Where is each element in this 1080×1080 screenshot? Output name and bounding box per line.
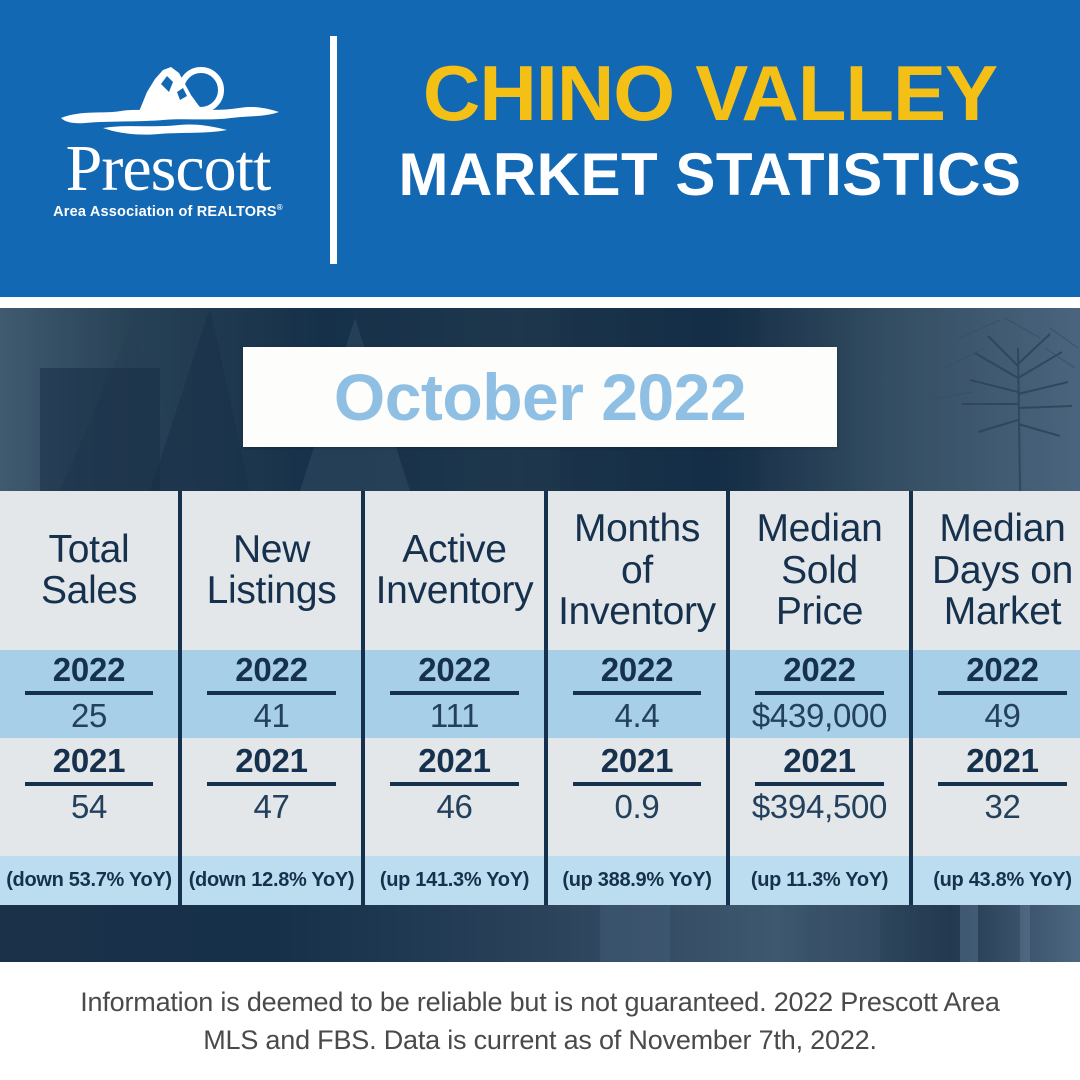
- value-2021: 0.9: [615, 788, 660, 826]
- stat-column-total-sales: Total Sales 2022 25 2021 54 (down 53.7% …: [0, 491, 178, 905]
- stat-column-median-days-on-market: Median Days on Market 2022 49 2021 32 (u…: [909, 491, 1080, 905]
- row-yoy-cell: (down 12.8% YoY): [182, 856, 361, 905]
- year-label-2021: 2021: [418, 744, 491, 779]
- row-2022-cell: 2022 25: [0, 650, 178, 739]
- year-label-2021: 2021: [783, 744, 856, 779]
- year-label-2022: 2022: [53, 653, 126, 688]
- column-header-label: Median Days on Market: [932, 508, 1073, 632]
- row-2022-cell: 2022 111: [365, 650, 544, 739]
- market-statistics-subtitle: MARKET STATISTICS: [360, 145, 1060, 205]
- value-2022: 4.4: [615, 697, 660, 735]
- column-header-label: Total Sales: [41, 529, 137, 612]
- value-2022: 25: [71, 697, 107, 735]
- market-statistics-infographic: Prescott Area Association of REALTORS® C…: [0, 0, 1080, 1080]
- year-rule: [390, 782, 519, 786]
- year-rule: [938, 691, 1067, 695]
- row-2022-cell: 2022 49: [913, 650, 1080, 739]
- yoy-change-label: (up 43.8% YoY): [933, 869, 1071, 892]
- value-2022: 111: [430, 697, 479, 735]
- row-yoy-cell: (down 53.7% YoY): [0, 856, 178, 905]
- row-2021-cell: 2021 $394,500: [730, 738, 909, 855]
- year-label-2021: 2021: [53, 744, 126, 779]
- year-rule: [207, 782, 336, 786]
- column-header-label: New Listings: [207, 529, 337, 612]
- row-2021-cell: 2021 32: [913, 738, 1080, 855]
- lower-photo-strip: [0, 905, 1080, 962]
- yoy-change-label: (up 11.3% YoY): [751, 869, 888, 892]
- month-banner: October 2022: [243, 347, 837, 447]
- row-yoy-cell: (up 43.8% YoY): [913, 856, 1080, 905]
- column-header-label: Median Sold Price: [756, 508, 882, 632]
- year-label-2022: 2022: [418, 653, 491, 688]
- year-label-2021: 2021: [601, 744, 674, 779]
- year-label-2022: 2022: [783, 653, 856, 688]
- month-label: October 2022: [334, 364, 746, 430]
- logo-wordmark: Prescott: [66, 138, 271, 201]
- year-label-2021: 2021: [235, 744, 308, 779]
- column-header-cell: New Listings: [182, 491, 361, 650]
- mountain-sun-icon: [43, 62, 293, 142]
- year-label-2022: 2022: [966, 653, 1039, 688]
- year-rule: [573, 691, 701, 695]
- row-yoy-cell: (up 11.3% YoY): [730, 856, 909, 905]
- registered-mark: ®: [277, 203, 283, 212]
- row-2022-cell: 2022 $439,000: [730, 650, 909, 739]
- prescott-logo: Prescott Area Association of REALTORS®: [28, 62, 308, 232]
- row-2021-cell: 2021 46: [365, 738, 544, 855]
- row-2022-cell: 2022 4.4: [548, 650, 726, 739]
- yoy-change-label: (down 12.8% YoY): [189, 869, 355, 892]
- header-title-group: CHINO VALLEY MARKET STATISTICS: [360, 55, 1060, 205]
- column-header-cell: Median Days on Market: [913, 491, 1080, 650]
- yoy-change-label: (down 53.7% YoY): [6, 869, 172, 892]
- year-rule: [207, 691, 336, 695]
- logo-subtitle: Area Association of REALTORS®: [53, 203, 283, 220]
- header-banner: Prescott Area Association of REALTORS® C…: [0, 0, 1080, 297]
- row-yoy-cell: (up 388.9% YoY): [548, 856, 726, 905]
- value-2021: 32: [984, 788, 1020, 826]
- value-2021: $394,500: [752, 788, 887, 826]
- stat-column-active-inventory: Active Inventory 2022 111 2021 46 (up 14…: [361, 491, 544, 905]
- row-2021-cell: 2021 47: [182, 738, 361, 855]
- yoy-change-label: (up 141.3% YoY): [380, 869, 529, 892]
- column-header-label: Active Inventory: [376, 529, 534, 612]
- year-label-2022: 2022: [601, 653, 674, 688]
- column-header-cell: Months of Inventory: [548, 491, 726, 650]
- row-2022-cell: 2022 41: [182, 650, 361, 739]
- footer-disclaimer: Information is deemed to be reliable but…: [0, 962, 1080, 1080]
- column-header-cell: Total Sales: [0, 491, 178, 650]
- column-header-label: Months of Inventory: [558, 508, 716, 632]
- year-rule: [938, 782, 1067, 786]
- row-2021-cell: 2021 0.9: [548, 738, 726, 855]
- lower-photo-graphic: [0, 905, 1080, 962]
- year-label-2021: 2021: [966, 744, 1039, 779]
- stat-column-median-sold-price: Median Sold Price 2022 $439,000 2021 $39…: [726, 491, 909, 905]
- value-2022: 41: [253, 697, 289, 735]
- value-2021: 54: [71, 788, 107, 826]
- year-rule: [573, 782, 701, 786]
- value-2021: 47: [253, 788, 289, 826]
- year-rule: [755, 691, 884, 695]
- row-2021-cell: 2021 54: [0, 738, 178, 855]
- yoy-change-label: (up 388.9% YoY): [562, 869, 711, 892]
- logo-subtitle-text: Area Association of REALTORS: [53, 204, 277, 220]
- value-2021: 46: [436, 788, 472, 826]
- year-label-2022: 2022: [235, 653, 308, 688]
- year-rule: [390, 691, 519, 695]
- value-2022: 49: [984, 697, 1020, 735]
- statistics-table: Total Sales 2022 25 2021 54 (down 53.7% …: [0, 491, 1080, 905]
- row-yoy-cell: (up 141.3% YoY): [365, 856, 544, 905]
- year-rule: [755, 782, 884, 786]
- column-header-cell: Active Inventory: [365, 491, 544, 650]
- header-vertical-divider: [330, 36, 337, 264]
- value-2022: $439,000: [752, 697, 887, 735]
- stat-column-new-listings: New Listings 2022 41 2021 47 (down 12.8%…: [178, 491, 361, 905]
- disclaimer-text: Information is deemed to be reliable but…: [75, 983, 1005, 1060]
- stat-column-months-of-inventory: Months of Inventory 2022 4.4 2021 0.9 (u…: [544, 491, 726, 905]
- market-name-title: CHINO VALLEY: [353, 55, 1067, 131]
- column-header-cell: Median Sold Price: [730, 491, 909, 650]
- year-rule: [25, 691, 153, 695]
- year-rule: [25, 782, 153, 786]
